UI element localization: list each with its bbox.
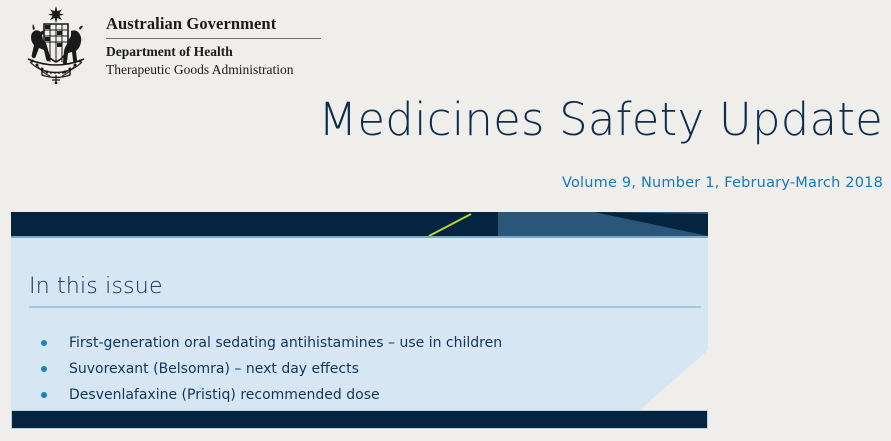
australian-coat-of-arms-icon — [14, 4, 98, 84]
bullet-icon — [41, 340, 47, 346]
volume-issue-date: Volume 9, Number 1, February-March 2018 — [562, 175, 883, 191]
brand-divider — [106, 38, 321, 39]
in-this-issue-block: In this issue First-generation oral seda… — [11, 212, 708, 414]
agency-line: Therapeutic Goods Administration — [106, 61, 321, 79]
list-item-label: Desvenlafaxine (Pristiq) recommended dos… — [69, 387, 380, 403]
government-line: Australian Government — [106, 14, 321, 34]
page-title-wrapper: Medicines Safety Update — [318, 92, 883, 148]
page-title: Medicines Safety Update — [318, 92, 883, 148]
decorative-top-band — [11, 212, 708, 236]
in-this-issue-panel: In this issue First-generation oral seda… — [11, 238, 708, 414]
decorative-bottom-bar — [11, 410, 708, 429]
bullet-icon — [41, 366, 47, 372]
bullet-icon — [41, 392, 47, 398]
heading-divider — [29, 306, 701, 308]
in-this-issue-heading: In this issue — [29, 274, 163, 300]
list-item-label: First-generation oral sedating antihista… — [69, 335, 502, 351]
department-line: Department of Health — [106, 43, 321, 61]
list-item[interactable]: First-generation oral sedating antihista… — [29, 330, 689, 356]
bottom-bar-wrapper — [11, 410, 708, 429]
list-item[interactable]: Desvenlafaxine (Pristiq) recommended dos… — [29, 382, 689, 408]
masthead: Australian Government Department of Heal… — [0, 0, 891, 96]
list-item-label: Suvorexant (Belsomra) – next day effects — [69, 361, 359, 377]
government-branding: Australian Government Department of Heal… — [106, 14, 321, 79]
band-underline — [11, 236, 708, 238]
list-item[interactable]: Suvorexant (Belsomra) – next day effects — [29, 356, 689, 382]
